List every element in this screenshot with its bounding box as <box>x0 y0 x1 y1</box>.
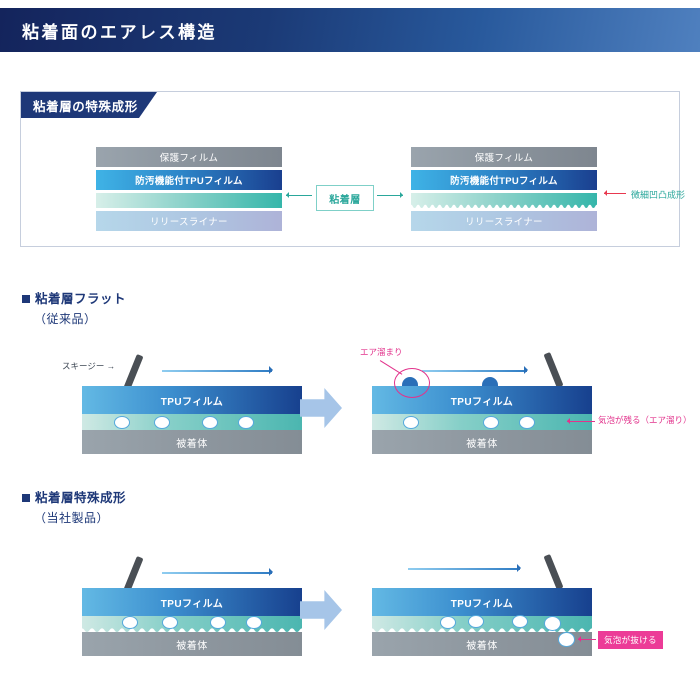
squeegee-icon <box>544 352 564 388</box>
micro-texture-arrow-icon <box>604 193 626 194</box>
layer-release-liner: リリースライナー <box>96 211 282 231</box>
section-sub-flat: （従来品） <box>34 310 97 327</box>
substrate-block: 被着体 <box>372 430 592 454</box>
air-bubble <box>114 416 130 429</box>
card-tab: 粘着層の特殊成形 <box>21 92 171 118</box>
process-arrow-icon <box>300 388 342 428</box>
air-bubble <box>202 416 218 429</box>
diagram-flat-before: スキージー → TPUフィルム 被着体 <box>82 338 302 458</box>
air-bubble <box>162 616 178 629</box>
air-pocket-bulge <box>482 377 498 386</box>
bullet-square-icon <box>22 494 30 502</box>
substrate-block: 被着体 <box>82 632 302 656</box>
bubble-remain-arrow-icon <box>567 421 595 422</box>
air-bubble <box>519 416 535 429</box>
air-bubble <box>468 615 484 628</box>
air-bubble <box>154 416 170 429</box>
diagram-flat-after: TPUフィルム 被着体 エア溜まり 気泡が残る（エア溜り） <box>372 338 592 458</box>
escaping-bubble <box>544 616 561 631</box>
adhesive-block-textured <box>82 616 302 632</box>
layer-protective-film: 保護フィルム <box>96 147 282 167</box>
air-bubble <box>246 616 262 629</box>
air-bubble <box>403 416 419 429</box>
adhesive-callout-arrow-right <box>377 195 403 196</box>
layer-protective-film: 保護フィルム <box>411 147 597 167</box>
layer-release-liner: リリースライナー <box>411 211 597 231</box>
micro-texture-label: 微細凹凸成形 <box>631 188 685 201</box>
bubble-escape-arrow-icon <box>578 639 596 640</box>
section-sub-textured: （当社製品） <box>34 509 109 526</box>
air-bubble <box>238 416 254 429</box>
structure-card: 粘着層の特殊成形 保護フィルム 防汚機能付TPUフィルム リリースライナー 粘着… <box>20 91 680 247</box>
squeegee-icon <box>124 556 144 592</box>
air-pocket-leader-line <box>380 360 403 375</box>
layer-adhesive-textured <box>411 193 597 208</box>
layer-stack-right: 保護フィルム 防汚機能付TPUフィルム リリースライナー <box>411 147 597 234</box>
squeegee-icon <box>544 554 564 590</box>
squeegee-icon <box>124 354 144 390</box>
layer-stack-left: 保護フィルム 防汚機能付TPUフィルム リリースライナー <box>96 147 282 234</box>
flow-direction-arrow-icon <box>162 370 272 372</box>
card-tab-label: 粘着層の特殊成形 <box>33 96 138 115</box>
flow-direction-arrow-icon <box>408 568 520 570</box>
escaping-bubble <box>558 632 575 647</box>
page-header: 粘着面のエアレス構造 <box>0 8 700 52</box>
layer-tpu-film: 防汚機能付TPUフィルム <box>96 170 282 190</box>
tpu-film-block: TPUフィルム <box>372 588 592 616</box>
air-bubble <box>210 616 226 629</box>
page-title: 粘着面のエアレス構造 <box>22 18 217 43</box>
flow-direction-arrow-icon <box>422 370 527 372</box>
tpu-film-block: TPUフィルム <box>82 386 302 414</box>
layer-adhesive-flat <box>96 193 282 208</box>
substrate-block: 被着体 <box>82 430 302 454</box>
adhesive-callout-arrow-left <box>286 195 312 196</box>
air-bubble <box>122 616 138 629</box>
process-arrow-icon <box>300 590 342 630</box>
diagram-textured-after: TPUフィルム 被着体 気泡が抜ける <box>372 540 592 660</box>
air-bubble <box>512 615 528 628</box>
section-heading-flat: 粘着層フラット <box>22 288 126 307</box>
section-heading-textured: 粘着層特殊成形 <box>22 487 126 506</box>
air-bubble <box>483 416 499 429</box>
flow-direction-arrow-icon <box>162 572 272 574</box>
layer-tpu-film: 防汚機能付TPUフィルム <box>411 170 597 190</box>
bubble-escape-label: 気泡が抜ける <box>598 631 663 649</box>
bubble-remain-label: 気泡が残る（エア溜り） <box>598 414 692 426</box>
tpu-film-block: TPUフィルム <box>82 588 302 616</box>
diagram-textured-before: TPUフィルム 被着体 <box>82 540 302 660</box>
air-pocket-label: エア溜まり <box>360 346 403 358</box>
squeegee-label: スキージー → <box>62 360 115 372</box>
adhesive-callout: 粘着層 <box>316 185 374 211</box>
air-bubble <box>440 616 456 629</box>
bullet-square-icon <box>22 295 30 303</box>
